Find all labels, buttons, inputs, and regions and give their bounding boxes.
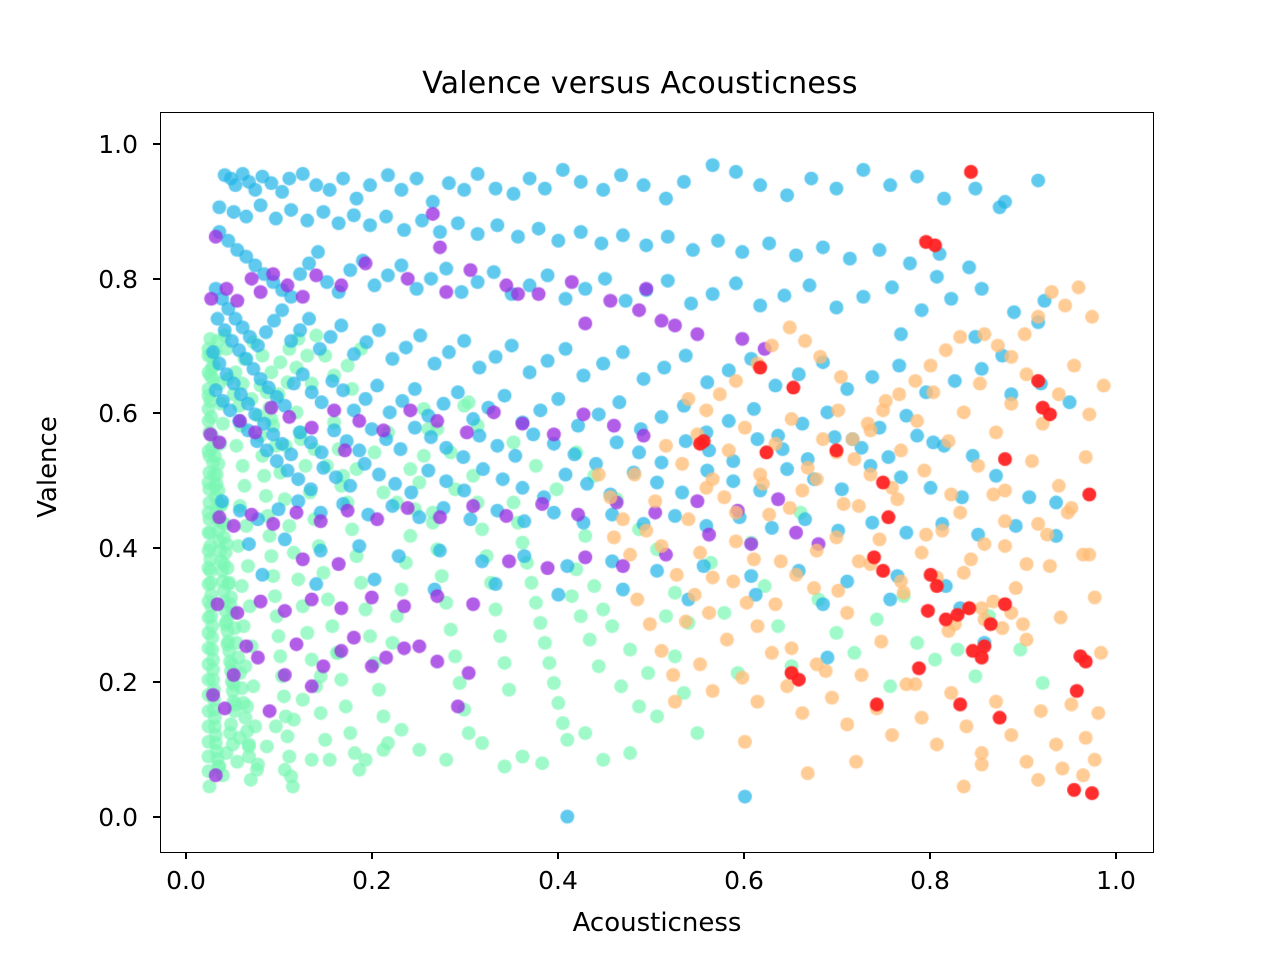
y-axis-label: Valence — [33, 397, 63, 537]
xtick-label-4: 0.8 — [870, 866, 990, 895]
ytick-mark-4 — [153, 278, 160, 280]
ytick-mark-2 — [153, 547, 160, 549]
xtick-label-2: 0.4 — [498, 866, 618, 895]
xtick-mark-0 — [185, 852, 187, 859]
xtick-label-3: 0.6 — [684, 866, 804, 895]
xtick-mark-4 — [929, 852, 931, 859]
x-axis-label: Acousticness — [160, 908, 1154, 938]
xtick-label-0: 0.0 — [126, 866, 246, 895]
plot-area — [160, 112, 1154, 853]
xtick-mark-3 — [743, 852, 745, 859]
ytick-label-0: 0.0 — [28, 803, 138, 832]
ytick-label-5: 1.0 — [28, 130, 138, 159]
scatter-canvas — [161, 113, 1153, 852]
xtick-mark-1 — [371, 852, 373, 859]
xtick-label-1: 0.2 — [312, 866, 432, 895]
xtick-label-5: 1.0 — [1056, 866, 1176, 895]
ytick-mark-0 — [153, 816, 160, 818]
xtick-mark-2 — [557, 852, 559, 859]
ytick-mark-1 — [153, 681, 160, 683]
ytick-label-4: 0.8 — [28, 265, 138, 294]
xtick-mark-5 — [1115, 852, 1117, 859]
ytick-label-1: 0.2 — [28, 668, 138, 697]
ytick-label-2: 0.4 — [28, 534, 138, 563]
ytick-mark-5 — [153, 143, 160, 145]
ytick-mark-3 — [153, 412, 160, 414]
scatter-plot-figure: Valence versus Acousticness 0.0 0.2 0.4 … — [0, 0, 1280, 960]
chart-title: Valence versus Acousticness — [0, 66, 1280, 101]
